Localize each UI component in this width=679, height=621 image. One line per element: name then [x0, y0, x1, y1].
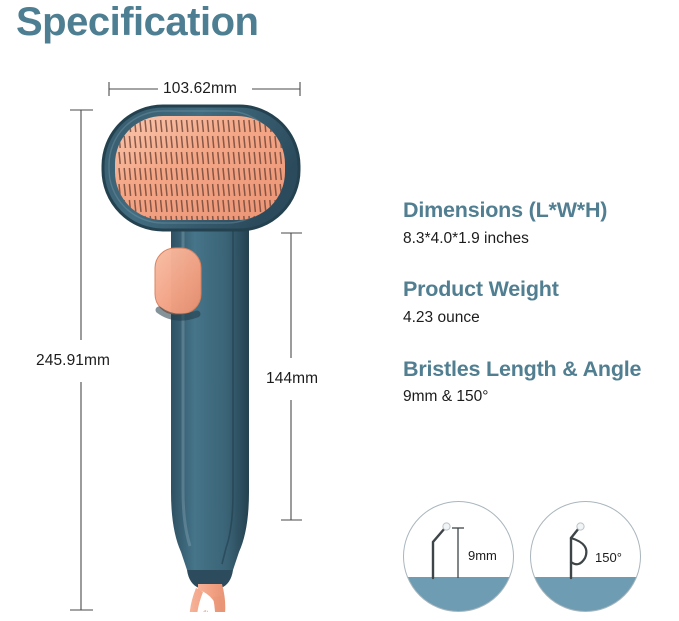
brush-head	[103, 106, 299, 230]
spec-heading-weight: Product Weight	[403, 277, 675, 302]
spec-value-bristles: 9mm & 150°	[403, 388, 675, 407]
spec-item-weight: Product Weight 4.23 ounce	[403, 277, 675, 327]
dimension-width-label: 103.62mm	[163, 80, 237, 98]
hanging-loop: benwue	[187, 570, 233, 612]
page-title: Specification	[16, 0, 258, 46]
specification-list: Dimensions (L*W*H) 8.3*4.0*1.9 inches Pr…	[403, 198, 675, 436]
spec-item-dimensions: Dimensions (L*W*H) 8.3*4.0*1.9 inches	[403, 198, 675, 248]
spec-value-dimensions: 8.3*4.0*1.9 inches	[403, 230, 675, 249]
specification-page: Specification	[0, 0, 679, 621]
dimension-height-label: 245.91mm	[36, 352, 110, 370]
spec-heading-bristles: Bristles Length & Angle	[403, 357, 675, 382]
bristle-angle-label: 150°	[595, 550, 622, 565]
bristle-diagrams: 9mm 150°	[402, 500, 642, 613]
dimension-handle-label: 144mm	[266, 370, 318, 388]
bristle-length-label: 9mm	[468, 548, 497, 563]
product-illustration: benwue	[95, 100, 325, 612]
spec-item-bristles: Bristles Length & Angle 9mm & 150°	[403, 357, 675, 407]
bristle-angle-diagram: 150°	[529, 500, 642, 613]
spec-heading-dimensions: Dimensions (L*W*H)	[403, 198, 675, 223]
brand-text: benwue	[201, 609, 210, 612]
bristle-length-diagram: 9mm	[402, 500, 515, 613]
spec-value-weight: 4.23 ounce	[403, 309, 675, 328]
release-button[interactable]	[155, 248, 201, 317]
